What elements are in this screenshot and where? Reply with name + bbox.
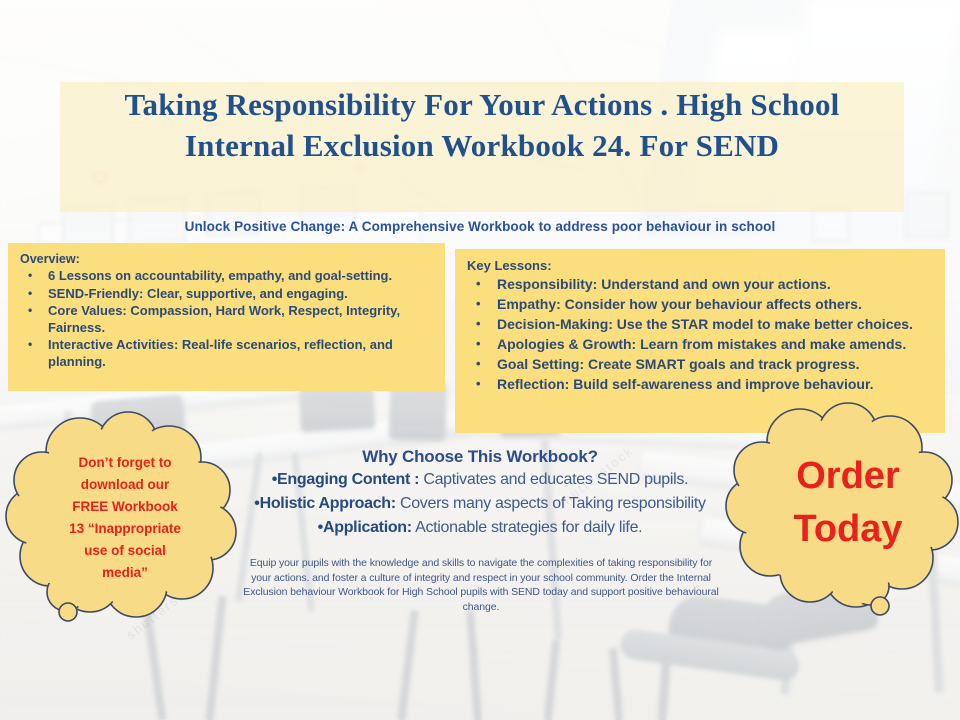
list-item: Interactive Activities: Real-life scenar… [20, 337, 435, 370]
order-today-cloud[interactable]: Order Today [730, 408, 960, 623]
page-title: Taking Responsibility For Your Actions .… [72, 84, 892, 166]
cloud-line: Don’t forget to [40, 452, 210, 474]
key-lessons-heading: Key Lessons: [467, 258, 935, 273]
list-item: Goal Setting: Create SMART goals and tra… [467, 355, 935, 374]
list-item: SEND-Friendly: Clear, supportive, and en… [20, 286, 435, 303]
why-line: •Holistic Approach: Covers many aspects … [215, 492, 745, 516]
list-item: Core Values: Compassion, Hard Work, Resp… [20, 303, 435, 336]
cloud-line: FREE Workbook [40, 496, 210, 518]
cloud-line: media” [40, 562, 210, 584]
why-line-text: Actionable strategies for daily life. [412, 519, 643, 536]
cloud-line: download our [40, 474, 210, 496]
promo-cloud-left-text: Don’t forget to download our FREE Workbo… [40, 452, 210, 584]
why-line-label: •Holistic Approach: [254, 495, 396, 512]
why-line-text: Covers many aspects of Taking responsibi… [396, 495, 706, 512]
list-item: 6 Lessons on accountability, empathy, an… [20, 268, 435, 285]
list-item: Apologies & Growth: Learn from mistakes … [467, 335, 935, 354]
page-subtitle: Unlock Positive Change: A Comprehensive … [110, 219, 850, 234]
promo-cloud-left[interactable]: Don’t forget to download our FREE Workbo… [6, 416, 244, 631]
key-lessons-box: Key Lessons: Responsibility: Understand … [455, 249, 945, 433]
why-line-label: •Application: [318, 519, 412, 536]
why-choose-list: •Engaging Content : Captivates and educa… [215, 468, 745, 540]
list-item: Empathy: Consider how your behaviour aff… [467, 295, 935, 314]
overview-heading: Overview: [20, 252, 435, 266]
overview-box: Overview: 6 Lessons on accountability, e… [8, 243, 445, 391]
list-item: Reflection: Build self-awareness and imp… [467, 375, 935, 394]
cloud-line: Order [758, 450, 938, 503]
cloud-line: Today [758, 503, 938, 556]
cloud-line: 13 “Inappropriate [40, 518, 210, 540]
cloud-line: use of social [40, 540, 210, 562]
closing-paragraph: Equip your pupils with the knowledge and… [243, 556, 719, 614]
why-line-text: Captivates and educates SEND pupils. [419, 471, 688, 488]
slide-canvas: shutterstock shutterstock Taking Respons… [0, 0, 960, 720]
why-line-label: •Engaging Content : [272, 471, 419, 488]
list-item: Decision-Making: Use the STAR model to m… [467, 315, 935, 334]
order-today-text: Order Today [758, 450, 938, 556]
overview-list: 6 Lessons on accountability, empathy, an… [20, 268, 435, 370]
why-line: •Application: Actionable strategies for … [215, 516, 745, 540]
why-line: •Engaging Content : Captivates and educa… [215, 468, 745, 492]
why-choose-heading: Why Choose This Workbook? [230, 447, 730, 467]
key-lessons-list: Responsibility: Understand and own your … [467, 275, 935, 394]
list-item: Responsibility: Understand and own your … [467, 275, 935, 294]
